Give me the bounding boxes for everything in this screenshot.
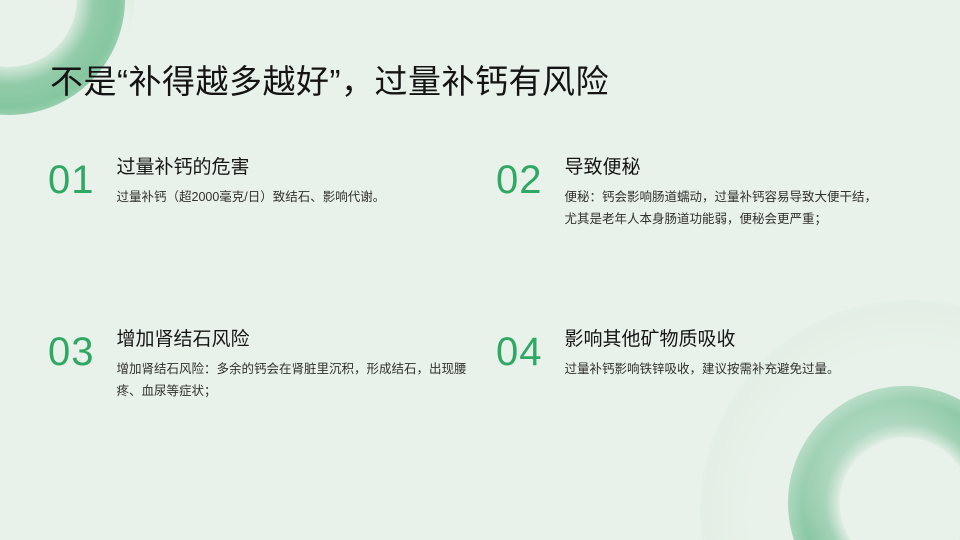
item-description: 过量补钙（超2000毫克/日）致结石、影响代谢。 <box>117 186 469 208</box>
item-description: 过量补钙影响铁锌吸收，建议按需补充避免过量。 <box>565 358 937 380</box>
item-body: 影响其他矿物质吸收 过量补钙影响铁锌吸收，建议按需补充避免过量。 <box>565 327 937 380</box>
item-description: 便秘：钙会影响肠道蠕动，过量补钙容易导致大便干结，尤其是老年人本身肠道功能弱，便… <box>565 186 885 230</box>
item-number: 03 <box>48 330 95 374</box>
item-number: 01 <box>48 158 95 202</box>
item-body: 导致便秘 便秘：钙会影响肠道蠕动，过量补钙容易导致大便干结，尤其是老年人本身肠道… <box>565 155 927 230</box>
list-item: 02 导致便秘 便秘：钙会影响肠道蠕动，过量补钙容易导致大便干结，尤其是老年人本… <box>496 155 926 230</box>
item-title: 增加肾结石风险 <box>117 327 469 353</box>
item-body: 过量补钙的危害 过量补钙（超2000毫克/日）致结石、影响代谢。 <box>117 155 469 208</box>
list-item: 01 过量补钙的危害 过量补钙（超2000毫克/日）致结石、影响代谢。 <box>48 155 468 208</box>
list-item: 04 影响其他矿物质吸收 过量补钙影响铁锌吸收，建议按需补充避免过量。 <box>496 327 936 380</box>
item-title: 影响其他矿物质吸收 <box>565 327 937 353</box>
items-grid: 01 过量补钙的危害 过量补钙（超2000毫克/日）致结石、影响代谢。 02 导… <box>0 0 960 540</box>
item-body: 增加肾结石风险 增加肾结石风险：多余的钙会在肾脏里沉积，形成结石，出现腰疼、血尿… <box>117 327 469 402</box>
item-description: 增加肾结石风险：多余的钙会在肾脏里沉积，形成结石，出现腰疼、血尿等症状； <box>117 358 469 402</box>
item-number: 04 <box>496 330 543 374</box>
item-title: 过量补钙的危害 <box>117 155 469 181</box>
item-title: 导致便秘 <box>565 155 927 181</box>
item-number: 02 <box>496 158 543 202</box>
list-item: 03 增加肾结石风险 增加肾结石风险：多余的钙会在肾脏里沉积，形成结石，出现腰疼… <box>48 327 468 402</box>
slide: 不是“补得越多越好”，过量补钙有风险 01 过量补钙的危害 过量补钙（超2000… <box>0 0 960 540</box>
